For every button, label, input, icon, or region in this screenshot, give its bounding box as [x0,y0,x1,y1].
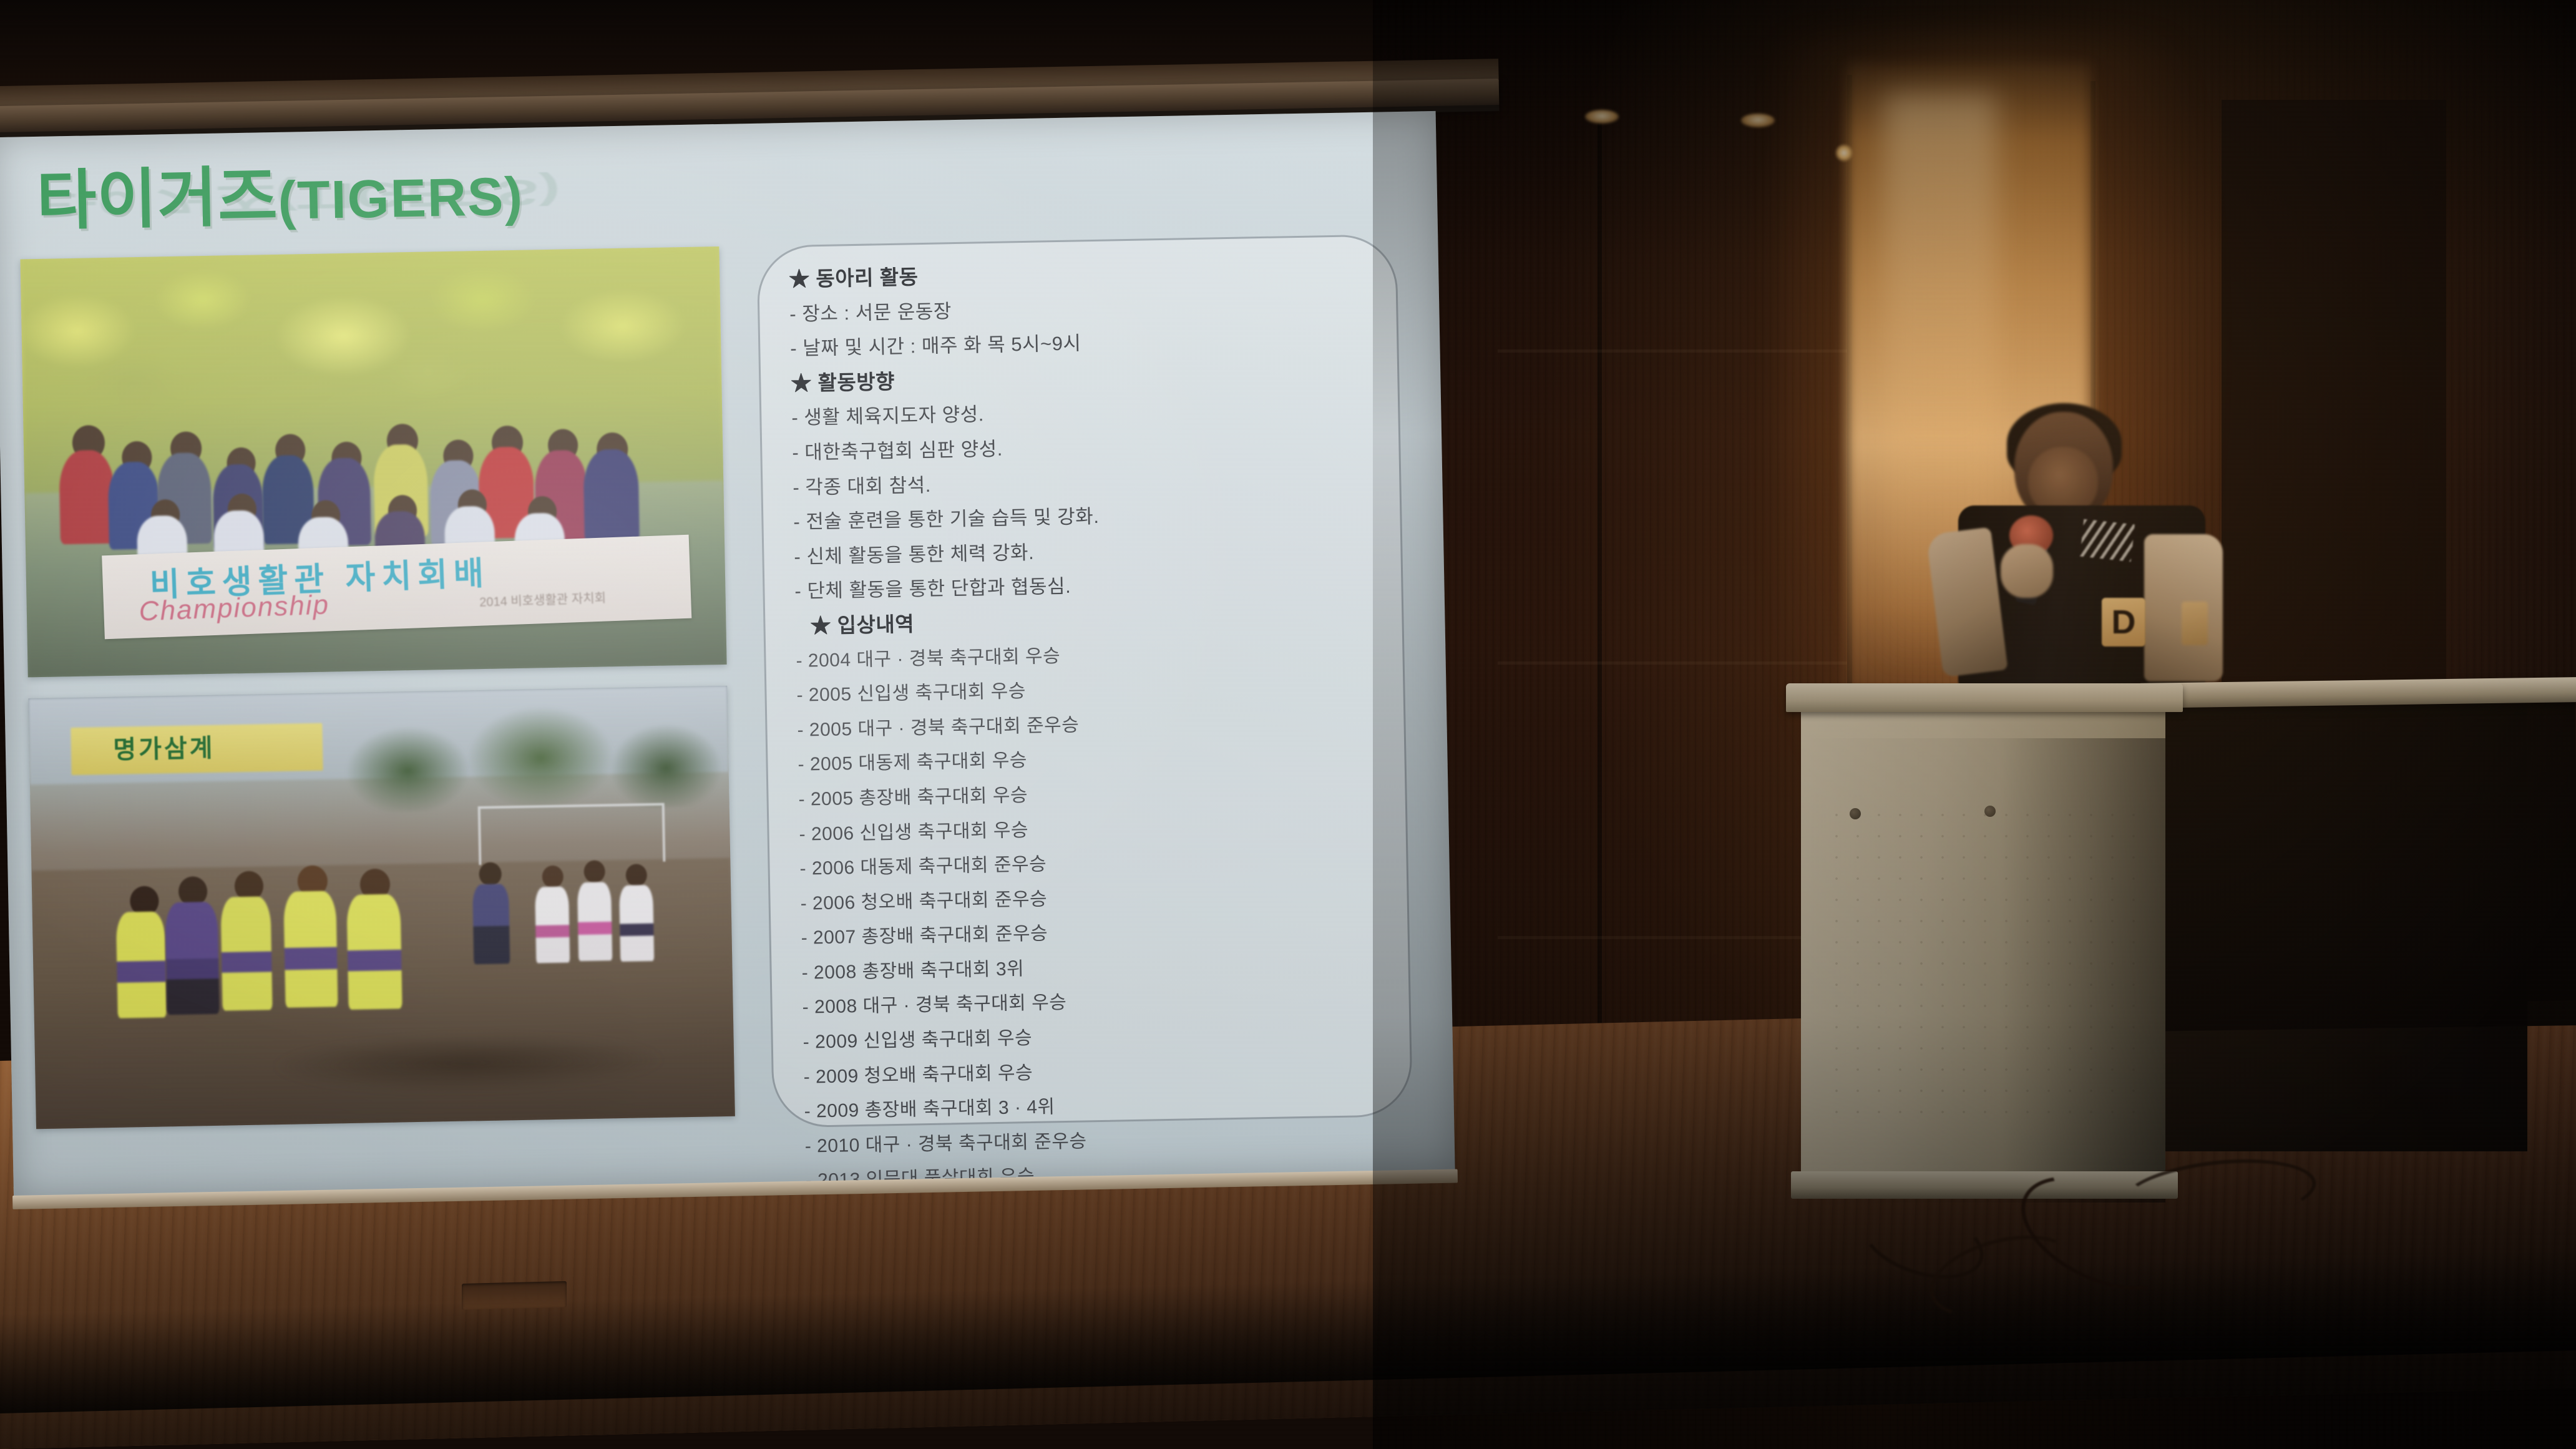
slide-title-en: (TIGERS) [278,167,524,231]
banner-text-en: Championship [139,589,330,627]
spot-light [1835,144,1853,162]
slide-content-textbox: ★ 동아리 활동 - 장소 : 서문 운동장 - 날짜 및 시간 : 매주 화 … [756,234,1413,1128]
slide-title-kr: 타이거즈 [36,161,279,238]
podium-top-surface [1786,683,2183,712]
presenter: D [1934,412,2228,680]
presenter-hand [2001,544,2053,598]
auditorium-presentation-photo: 타이거즈(TIGERS) 타이거즈(TIGERS) [0,0,2576,1449]
ground-shadow [272,1032,665,1095]
presentation-slide: 타이거즈(TIGERS) 타이거즈(TIGERS) [0,111,1455,1198]
podium [1797,683,2172,1220]
trees [336,703,729,813]
podium-screw [1850,808,1861,819]
jacket-sleeve-patch [2182,602,2208,645]
banner-subtext: 2014 비호생활관 자치회 [479,588,607,610]
textbox-lines: ★ 동아리 활동 - 장소 : 서문 운동장 - 날짜 및 시간 : 매주 화 … [789,251,1397,1198]
wall-panel-line [1498,936,1847,939]
secondary-table-shadow [2138,701,2576,1032]
jacket-letter-patch: D [2102,598,2145,646]
recessed-ceiling-light [1585,110,1619,124]
wall-seam [1598,112,1602,1086]
projection-screen: 타이거즈(TIGERS) 타이거즈(TIGERS) [0,10,1519,1211]
jacket-collar-stripes [2080,519,2135,562]
goal-net [478,803,666,865]
podium-screw [1984,806,1996,817]
recessed-ceiling-light [1741,114,1775,127]
soccer-match-photo: 명가삼계 [28,686,734,1129]
group-photo-with-banner: 비호생활관 자치회배 Championship 2014 비호생활관 자치회 [21,246,727,677]
podium-body [1801,711,2165,1175]
slide-title: 타이거즈(TIGERS) [36,160,524,234]
signboard-text: 명가삼계 [113,728,215,766]
